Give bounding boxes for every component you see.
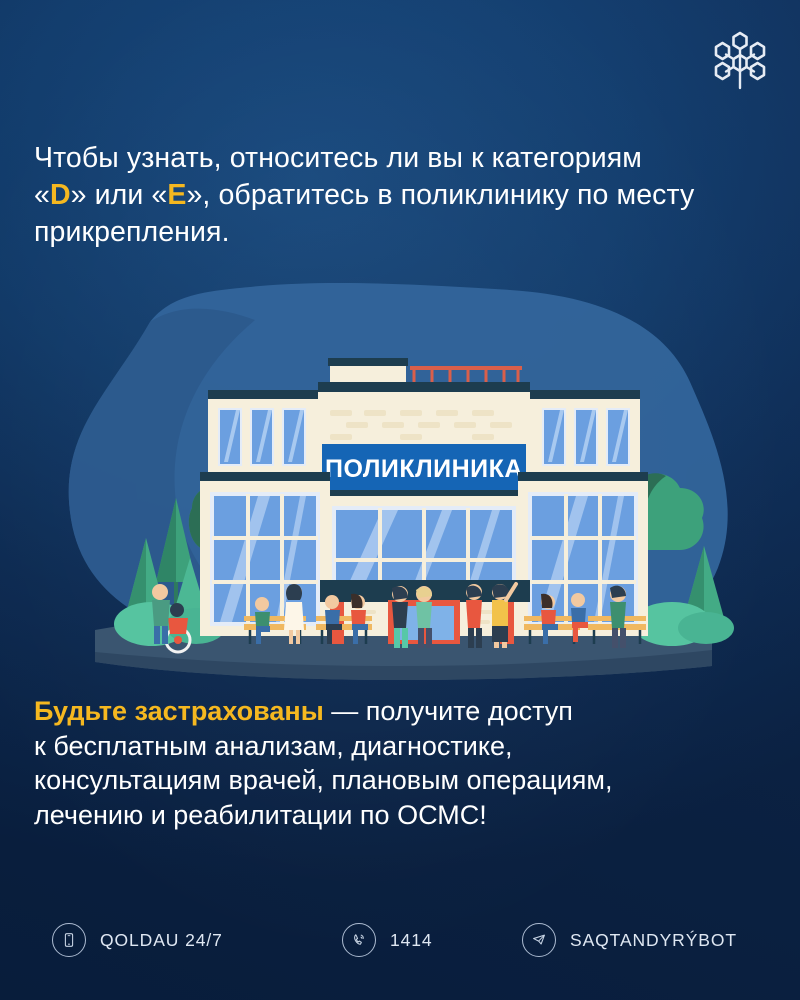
bottom-copy-line-2: к бесплатным анализам, диагностике, xyxy=(34,729,744,764)
headline-line-2-tail: », обратитесь в поликлинику по месту xyxy=(186,179,694,211)
category-e-label: E xyxy=(167,179,186,211)
smartphone-icon xyxy=(52,923,86,957)
headline-line-1-text: Чтобы узнать, относитесь ли вы к категор… xyxy=(34,142,642,174)
bottom-copy-line-1: Будьте застрахованы — получите доступ xyxy=(34,694,744,729)
footer-item-telegram[interactable]: SAQTANDYRÝBOT xyxy=(522,923,782,957)
cornice-left xyxy=(208,390,328,399)
headline-quote-open: « xyxy=(34,179,50,211)
mid-cornice-right xyxy=(518,472,648,481)
headline-line-3: прикрепления. xyxy=(34,214,754,251)
phone-call-icon xyxy=(342,923,376,957)
person-walking xyxy=(610,586,626,648)
contact-footer: QOLDAU 24/7 1414 SAQTANDYRÝBOT xyxy=(0,910,800,970)
footer-item-1414[interactable]: 1414 xyxy=(342,923,522,957)
bottom-copy-line-3: консультациям врачей, плановым операциям… xyxy=(34,763,744,798)
footer-label-qoldau: QOLDAU 24/7 xyxy=(100,930,223,951)
bottom-copy-text: Будьте застрахованы — получите доступ к … xyxy=(34,694,744,832)
headline-line-2: «D» или «E», обратитесь в поликлинику по… xyxy=(34,177,754,214)
cornice-center xyxy=(318,382,530,392)
upper-windows-left xyxy=(218,408,306,466)
headline-text: Чтобы узнать, относитесь ли вы к категор… xyxy=(34,140,754,251)
mid-cornice-left xyxy=(200,472,330,481)
person-walking xyxy=(466,584,482,648)
category-d-label: D xyxy=(50,179,71,211)
telegram-plane-icon xyxy=(522,923,556,957)
poster-canvas: Чтобы узнать, относитесь ли вы к категор… xyxy=(0,0,800,1000)
bottom-copy-line-1-tail: — получите доступ xyxy=(324,696,573,726)
footer-label-1414: 1414 xyxy=(390,930,433,951)
footer-item-qoldau[interactable]: QOLDAU 24/7 xyxy=(52,923,342,957)
bottom-copy-accent: Будьте застрахованы xyxy=(34,696,324,726)
headline-conjunction: » или « xyxy=(71,179,168,211)
headline-line-1: Чтобы узнать, относитесь ли вы к категор… xyxy=(34,140,754,177)
footer-label-telegram: SAQTANDYRÝBOT xyxy=(570,930,737,951)
upper-windows-right xyxy=(542,408,630,466)
cornice-right xyxy=(520,390,640,399)
bottom-copy-line-4: лечению и реабилитации по ОСМС! xyxy=(34,798,744,833)
sign-text: ПОЛИКЛИНИКА xyxy=(325,455,523,483)
person-walking xyxy=(392,586,408,648)
person-walking xyxy=(416,586,432,648)
polyclinic-illustration: ПОЛИКЛИНИКА xyxy=(0,262,800,682)
hexagon-flower-logo-icon xyxy=(712,28,768,90)
headline-line-3-text: прикрепления. xyxy=(34,216,230,248)
